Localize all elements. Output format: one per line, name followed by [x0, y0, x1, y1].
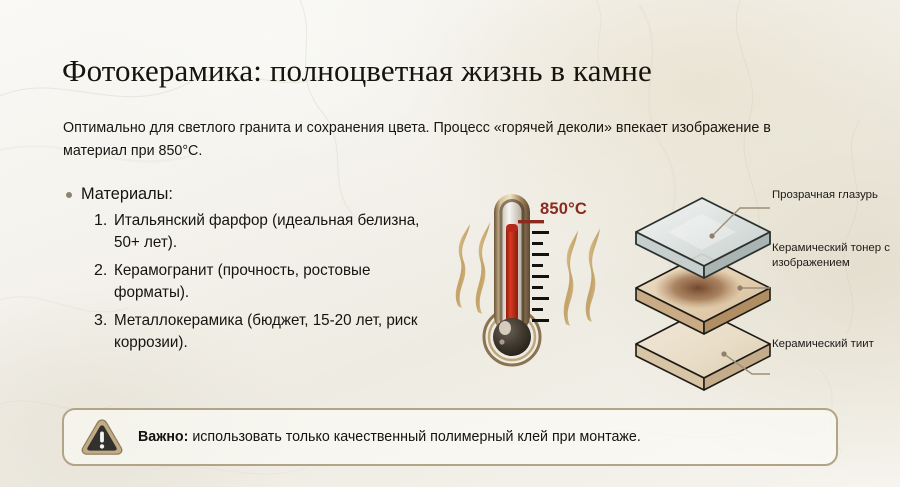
heat-wave-icon: [456, 222, 490, 314]
list-item-label: Металлокерамика (бюджет, 15-20 лет, риск…: [114, 310, 428, 354]
heat-wave-icon: [564, 228, 600, 326]
bullet-dot-icon: [66, 192, 72, 198]
important-note-strong: Важно:: [138, 428, 188, 445]
thermometer-icon: [484, 194, 544, 365]
slide-canvas: Фотокерамика: полноцветная жизнь в камне…: [0, 0, 900, 487]
illustration-area: 850°C Прозрачная глазурь Керамический то…: [440, 176, 900, 391]
warning-triangle-icon: [80, 417, 124, 457]
temperature-label: 850°C: [540, 200, 587, 219]
materials-list-block: Материалы: 1. Итальянский фарфор (идеаль…: [66, 183, 466, 360]
layer-stack-icon: [636, 198, 770, 390]
list-item-number: 2.: [94, 260, 107, 282]
important-note-text: Важно: использовать только качественный …: [138, 427, 641, 447]
page-title: Фотокерамика: полноцветная жизнь в камне: [62, 52, 862, 90]
list-item-number: 3.: [94, 310, 107, 332]
list-item: 2. Керамогранит (прочность, ростовые фор…: [94, 260, 466, 304]
materials-bullet-row: Материалы:: [66, 183, 466, 205]
list-item-number: 1.: [94, 210, 107, 232]
layer-label-base: Керамический тиит: [772, 337, 892, 352]
layer-label-toner: Керамический тонер с изображением: [772, 241, 892, 270]
important-note-body: использовать только качественный полимер…: [188, 428, 640, 445]
layer-label-glaze: Прозрачная глазурь: [772, 188, 892, 203]
intro-paragraph: Оптимально для светлого гранита и сохран…: [63, 116, 806, 162]
materials-heading: Материалы:: [81, 183, 173, 205]
list-item-label: Керамогранит (прочность, ростовые формат…: [114, 260, 428, 304]
list-item-label: Итальянский фарфор (идеальная белизна, 5…: [114, 210, 428, 254]
important-note-box: Важно: использовать только качественный …: [62, 408, 838, 466]
list-item: 3. Металлокерамика (бюджет, 15-20 лет, р…: [94, 310, 466, 354]
materials-ordered-list: 1. Итальянский фарфор (идеальная белизна…: [66, 210, 466, 354]
layer-transparent-glaze: [636, 198, 770, 278]
thermometer-scale-icon: [532, 231, 549, 322]
list-item: 1. Итальянский фарфор (идеальная белизна…: [94, 210, 466, 254]
